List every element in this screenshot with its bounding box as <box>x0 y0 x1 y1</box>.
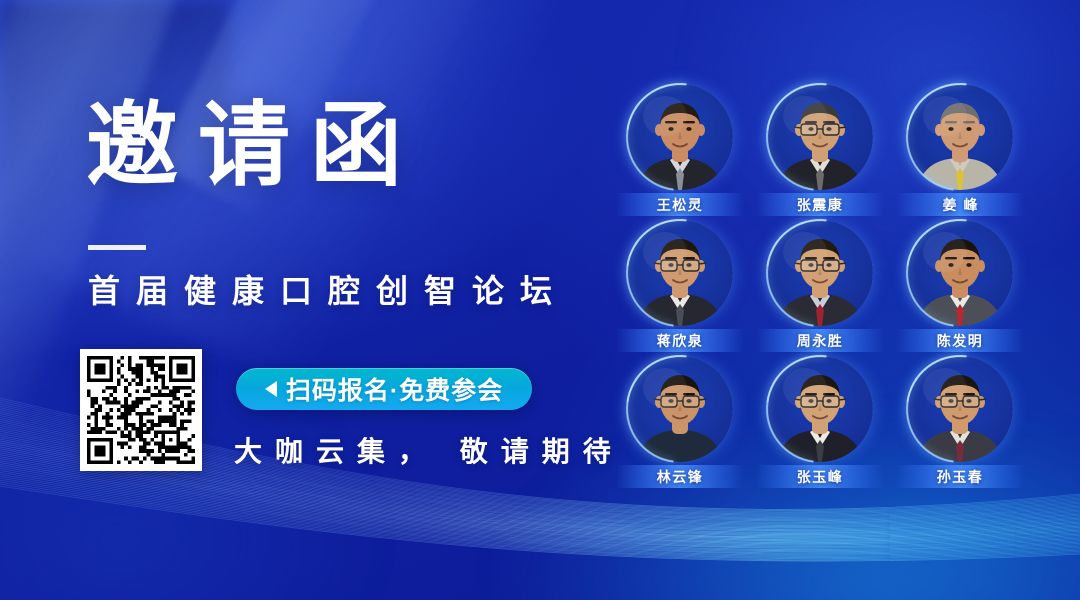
speaker-nameplate: 陈发明 <box>896 329 1024 352</box>
ring-highlight-arc <box>884 333 1036 485</box>
speaker-name: 周永胜 <box>797 331 844 351</box>
speaker-nameplate: 姜峰 <box>896 193 1024 216</box>
speaker-card[interactable]: 周永胜 <box>752 220 888 356</box>
register-button[interactable]: 扫码报名·免费参会 <box>236 368 532 410</box>
speaker-card[interactable]: 张玉峰 <box>752 356 888 492</box>
triangle-left-icon <box>265 381 277 397</box>
ring-highlight-arc <box>884 197 1036 349</box>
title-divider <box>88 245 146 250</box>
speaker-card[interactable]: 姜峰 <box>892 84 1028 220</box>
qr-code[interactable] <box>80 349 202 471</box>
speaker-nameplate: 蒋欣泉 <box>616 329 744 352</box>
speaker-card[interactable]: 王松灵 <box>612 84 748 220</box>
speaker-name: 陈发明 <box>937 331 984 351</box>
speaker-nameplate: 张震康 <box>756 193 884 216</box>
speaker-nameplate: 张玉峰 <box>756 465 884 488</box>
speaker-card[interactable]: 孙玉春 <box>892 356 1028 492</box>
page-title: 邀请函 <box>86 100 422 192</box>
ring-highlight-arc <box>744 333 896 485</box>
speaker-name: 姜峰 <box>936 195 985 215</box>
speaker-card[interactable]: 陈发明 <box>892 220 1028 356</box>
ring-highlight-arc <box>744 197 896 349</box>
ring-highlight-arc <box>744 61 896 213</box>
speaker-name: 张玉峰 <box>797 467 844 487</box>
speaker-name: 王松灵 <box>657 195 704 215</box>
speaker-nameplate: 林云锋 <box>616 465 744 488</box>
speaker-card[interactable]: 蒋欣泉 <box>612 220 748 356</box>
page-subtitle: 首届健康口腔创智论坛 <box>88 266 568 312</box>
speaker-name: 孙玉春 <box>937 467 984 487</box>
speaker-nameplate: 孙玉春 <box>896 465 1024 488</box>
register-button-label: 扫码报名·免费参会 <box>286 371 503 407</box>
speaker-nameplate: 周永胜 <box>756 329 884 352</box>
speaker-nameplate: 王松灵 <box>616 193 744 216</box>
speaker-name: 张震康 <box>797 195 844 215</box>
speaker-card[interactable]: 张震康 <box>752 84 888 220</box>
speaker-name: 蒋欣泉 <box>657 331 704 351</box>
tagline: 大咖云集， 敬请期待 <box>234 430 624 470</box>
ring-highlight-arc <box>604 61 756 213</box>
speaker-card[interactable]: 林云锋 <box>612 356 748 492</box>
ring-highlight-arc <box>604 333 756 485</box>
speaker-name: 林云锋 <box>657 467 704 487</box>
ring-highlight-arc <box>884 61 1036 213</box>
speaker-grid: 王松灵 <box>612 84 1022 492</box>
left-content-column: 邀请函 首届健康口腔创智论坛 扫码报名·免费参会 大咖云集， 敬请期待 <box>0 0 600 600</box>
ring-highlight-arc <box>604 197 756 349</box>
invitation-poster: 邀请函 首届健康口腔创智论坛 扫码报名·免费参会 大咖云集， 敬请期待 <box>0 0 1080 600</box>
